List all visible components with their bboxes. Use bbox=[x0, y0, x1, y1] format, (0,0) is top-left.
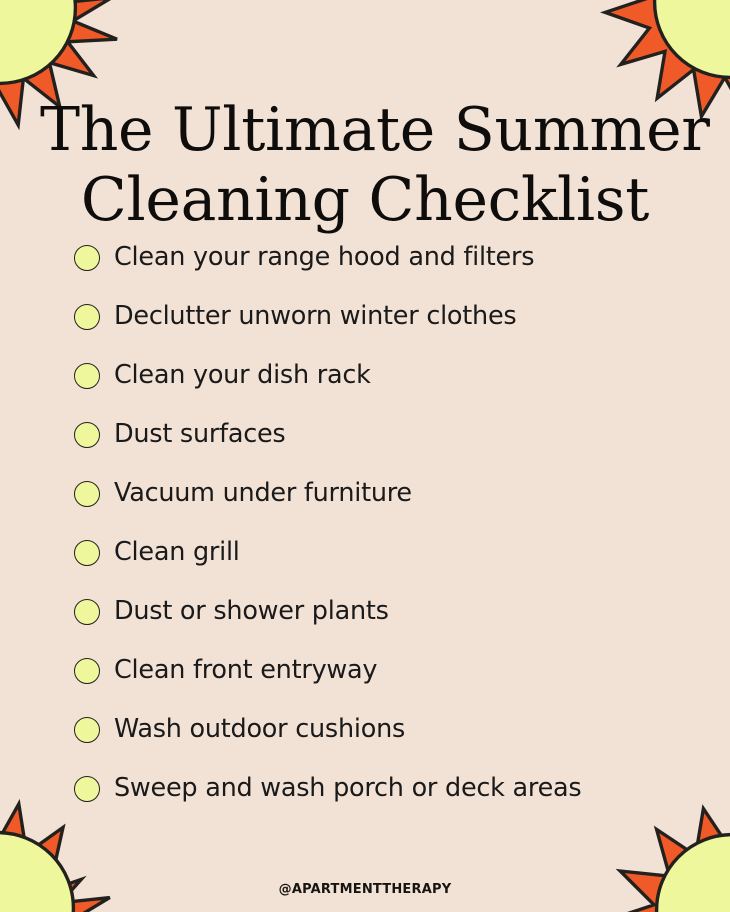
checklist-item[interactable]: Clean your dish rack bbox=[74, 346, 690, 405]
checkbox-circle-icon[interactable] bbox=[74, 599, 100, 625]
checkbox-circle-icon[interactable] bbox=[74, 540, 100, 566]
checklist-item[interactable]: Dust surfaces bbox=[74, 405, 690, 464]
checklist-item[interactable]: Clean front entryway bbox=[74, 641, 690, 700]
checklist-item-label: Clean your dish rack bbox=[114, 363, 371, 389]
checkbox-circle-icon[interactable] bbox=[74, 304, 100, 330]
checklist-item-label: Clean your range hood and filters bbox=[114, 245, 534, 271]
checklist-item[interactable]: Dust or shower plants bbox=[74, 582, 690, 641]
page-title: The Ultimate Summer Cleaning Checklist bbox=[0, 96, 730, 235]
page-title-line-2: Cleaning Checklist bbox=[40, 166, 690, 236]
checklist-item[interactable]: Sweep and wash porch or deck areas bbox=[74, 759, 690, 818]
checklist-item-label: Clean front entryway bbox=[114, 658, 377, 684]
checklist-item[interactable]: Vacuum under furniture bbox=[74, 464, 690, 523]
checklist-item[interactable]: Clean your range hood and filters bbox=[74, 228, 690, 287]
page-title-line-1: The Ultimate Summer bbox=[40, 96, 690, 166]
checklist: Clean your range hood and filtersDeclutt… bbox=[74, 228, 690, 818]
checklist-item-label: Sweep and wash porch or deck areas bbox=[114, 776, 581, 802]
checkbox-circle-icon[interactable] bbox=[74, 717, 100, 743]
checkbox-circle-icon[interactable] bbox=[74, 776, 100, 802]
footer-handle: @APARTMENTTHERAPY bbox=[0, 882, 730, 897]
checklist-item-label: Wash outdoor cushions bbox=[114, 717, 405, 743]
checklist-item-label: Dust surfaces bbox=[114, 422, 285, 448]
checkbox-circle-icon[interactable] bbox=[74, 658, 100, 684]
checklist-item-label: Declutter unworn winter clothes bbox=[114, 304, 516, 330]
checkbox-circle-icon[interactable] bbox=[74, 422, 100, 448]
checklist-item-label: Clean grill bbox=[114, 540, 240, 566]
checkbox-circle-icon[interactable] bbox=[74, 481, 100, 507]
checklist-item[interactable]: Clean grill bbox=[74, 523, 690, 582]
checkbox-circle-icon[interactable] bbox=[74, 363, 100, 389]
checklist-item[interactable]: Declutter unworn winter clothes bbox=[74, 287, 690, 346]
checklist-item-label: Dust or shower plants bbox=[114, 599, 389, 625]
poster-canvas: The Ultimate Summer Cleaning Checklist C… bbox=[0, 0, 730, 912]
checklist-item[interactable]: Wash outdoor cushions bbox=[74, 700, 690, 759]
checklist-item-label: Vacuum under furniture bbox=[114, 481, 412, 507]
checkbox-circle-icon[interactable] bbox=[74, 245, 100, 271]
